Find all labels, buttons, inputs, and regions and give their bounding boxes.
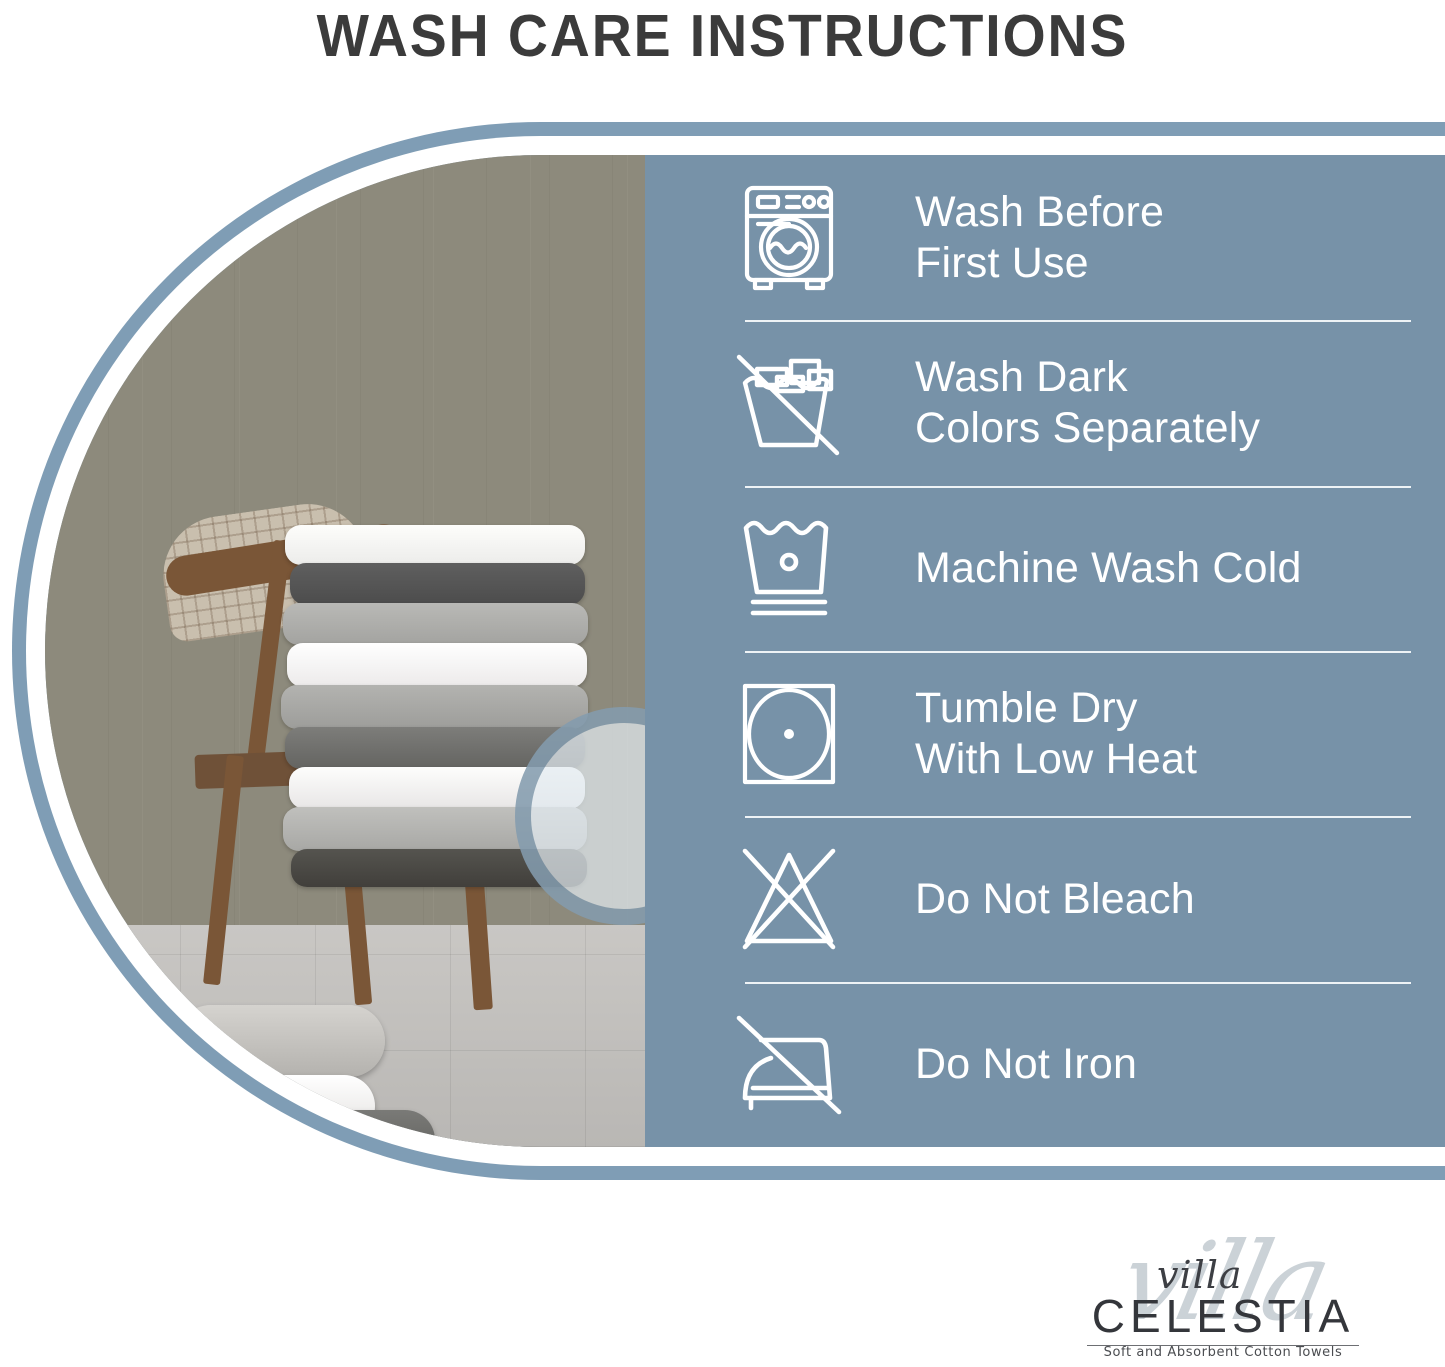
towel-stack-item bbox=[287, 643, 587, 687]
washing-machine-icon bbox=[733, 182, 845, 294]
towel-stack-item bbox=[281, 685, 588, 729]
towel-stack-item bbox=[290, 563, 585, 605]
instruction-rows: Wash Before First Use Wa bbox=[645, 155, 1445, 1147]
towel-stack-item bbox=[285, 525, 585, 565]
instruction-label: Wash Dark Colors Separately bbox=[915, 352, 1260, 453]
do-not-bleach-triangle-icon bbox=[733, 843, 845, 955]
wash-basin-cold-icon bbox=[733, 512, 845, 624]
logo-wordmark-celestia: CELESTIA bbox=[1087, 1289, 1359, 1346]
instruction-label: Do Not Iron bbox=[915, 1039, 1137, 1090]
instruction-label: Do Not Bleach bbox=[915, 874, 1195, 925]
do-not-iron-icon bbox=[733, 1008, 845, 1120]
instruction-row-tumble-dry-low-heat: Tumble Dry With Low Heat bbox=[645, 651, 1445, 816]
instruction-card: Wash Before First Use Wa bbox=[12, 122, 1445, 1180]
tumble-dry-low-icon bbox=[733, 678, 845, 790]
brand-logo: villa villa CELESTIA Soft and Absorbent … bbox=[1073, 1227, 1373, 1359]
instruction-label: Wash Before First Use bbox=[915, 187, 1164, 288]
instructions-panel: Wash Before First Use Wa bbox=[645, 155, 1445, 1147]
towel-stack-item bbox=[283, 603, 588, 645]
rolled-towel bbox=[270, 1110, 435, 1147]
instruction-row-do-not-bleach: Do Not Bleach bbox=[645, 816, 1445, 981]
rolled-towel bbox=[175, 1005, 385, 1077]
no-mixed-wash-basin-icon bbox=[733, 347, 845, 459]
product-photo bbox=[45, 155, 645, 1147]
instruction-row-do-not-iron: Do Not Iron bbox=[645, 982, 1445, 1147]
instruction-label: Machine Wash Cold bbox=[915, 543, 1302, 594]
logo-tagline: Soft and Absorbent Cotton Towels bbox=[1073, 1345, 1373, 1360]
instruction-label: Tumble Dry With Low Heat bbox=[915, 683, 1197, 784]
card-inner: Wash Before First Use Wa bbox=[45, 155, 1445, 1147]
instruction-row-wash-dark-colors-separately: Wash Dark Colors Separately bbox=[645, 320, 1445, 485]
instruction-row-machine-wash-cold: Machine Wash Cold bbox=[645, 486, 1445, 651]
instruction-row-wash-before-first-use: Wash Before First Use bbox=[645, 155, 1445, 320]
page-title: WASH CARE INSTRUCTIONS bbox=[43, 0, 1401, 72]
